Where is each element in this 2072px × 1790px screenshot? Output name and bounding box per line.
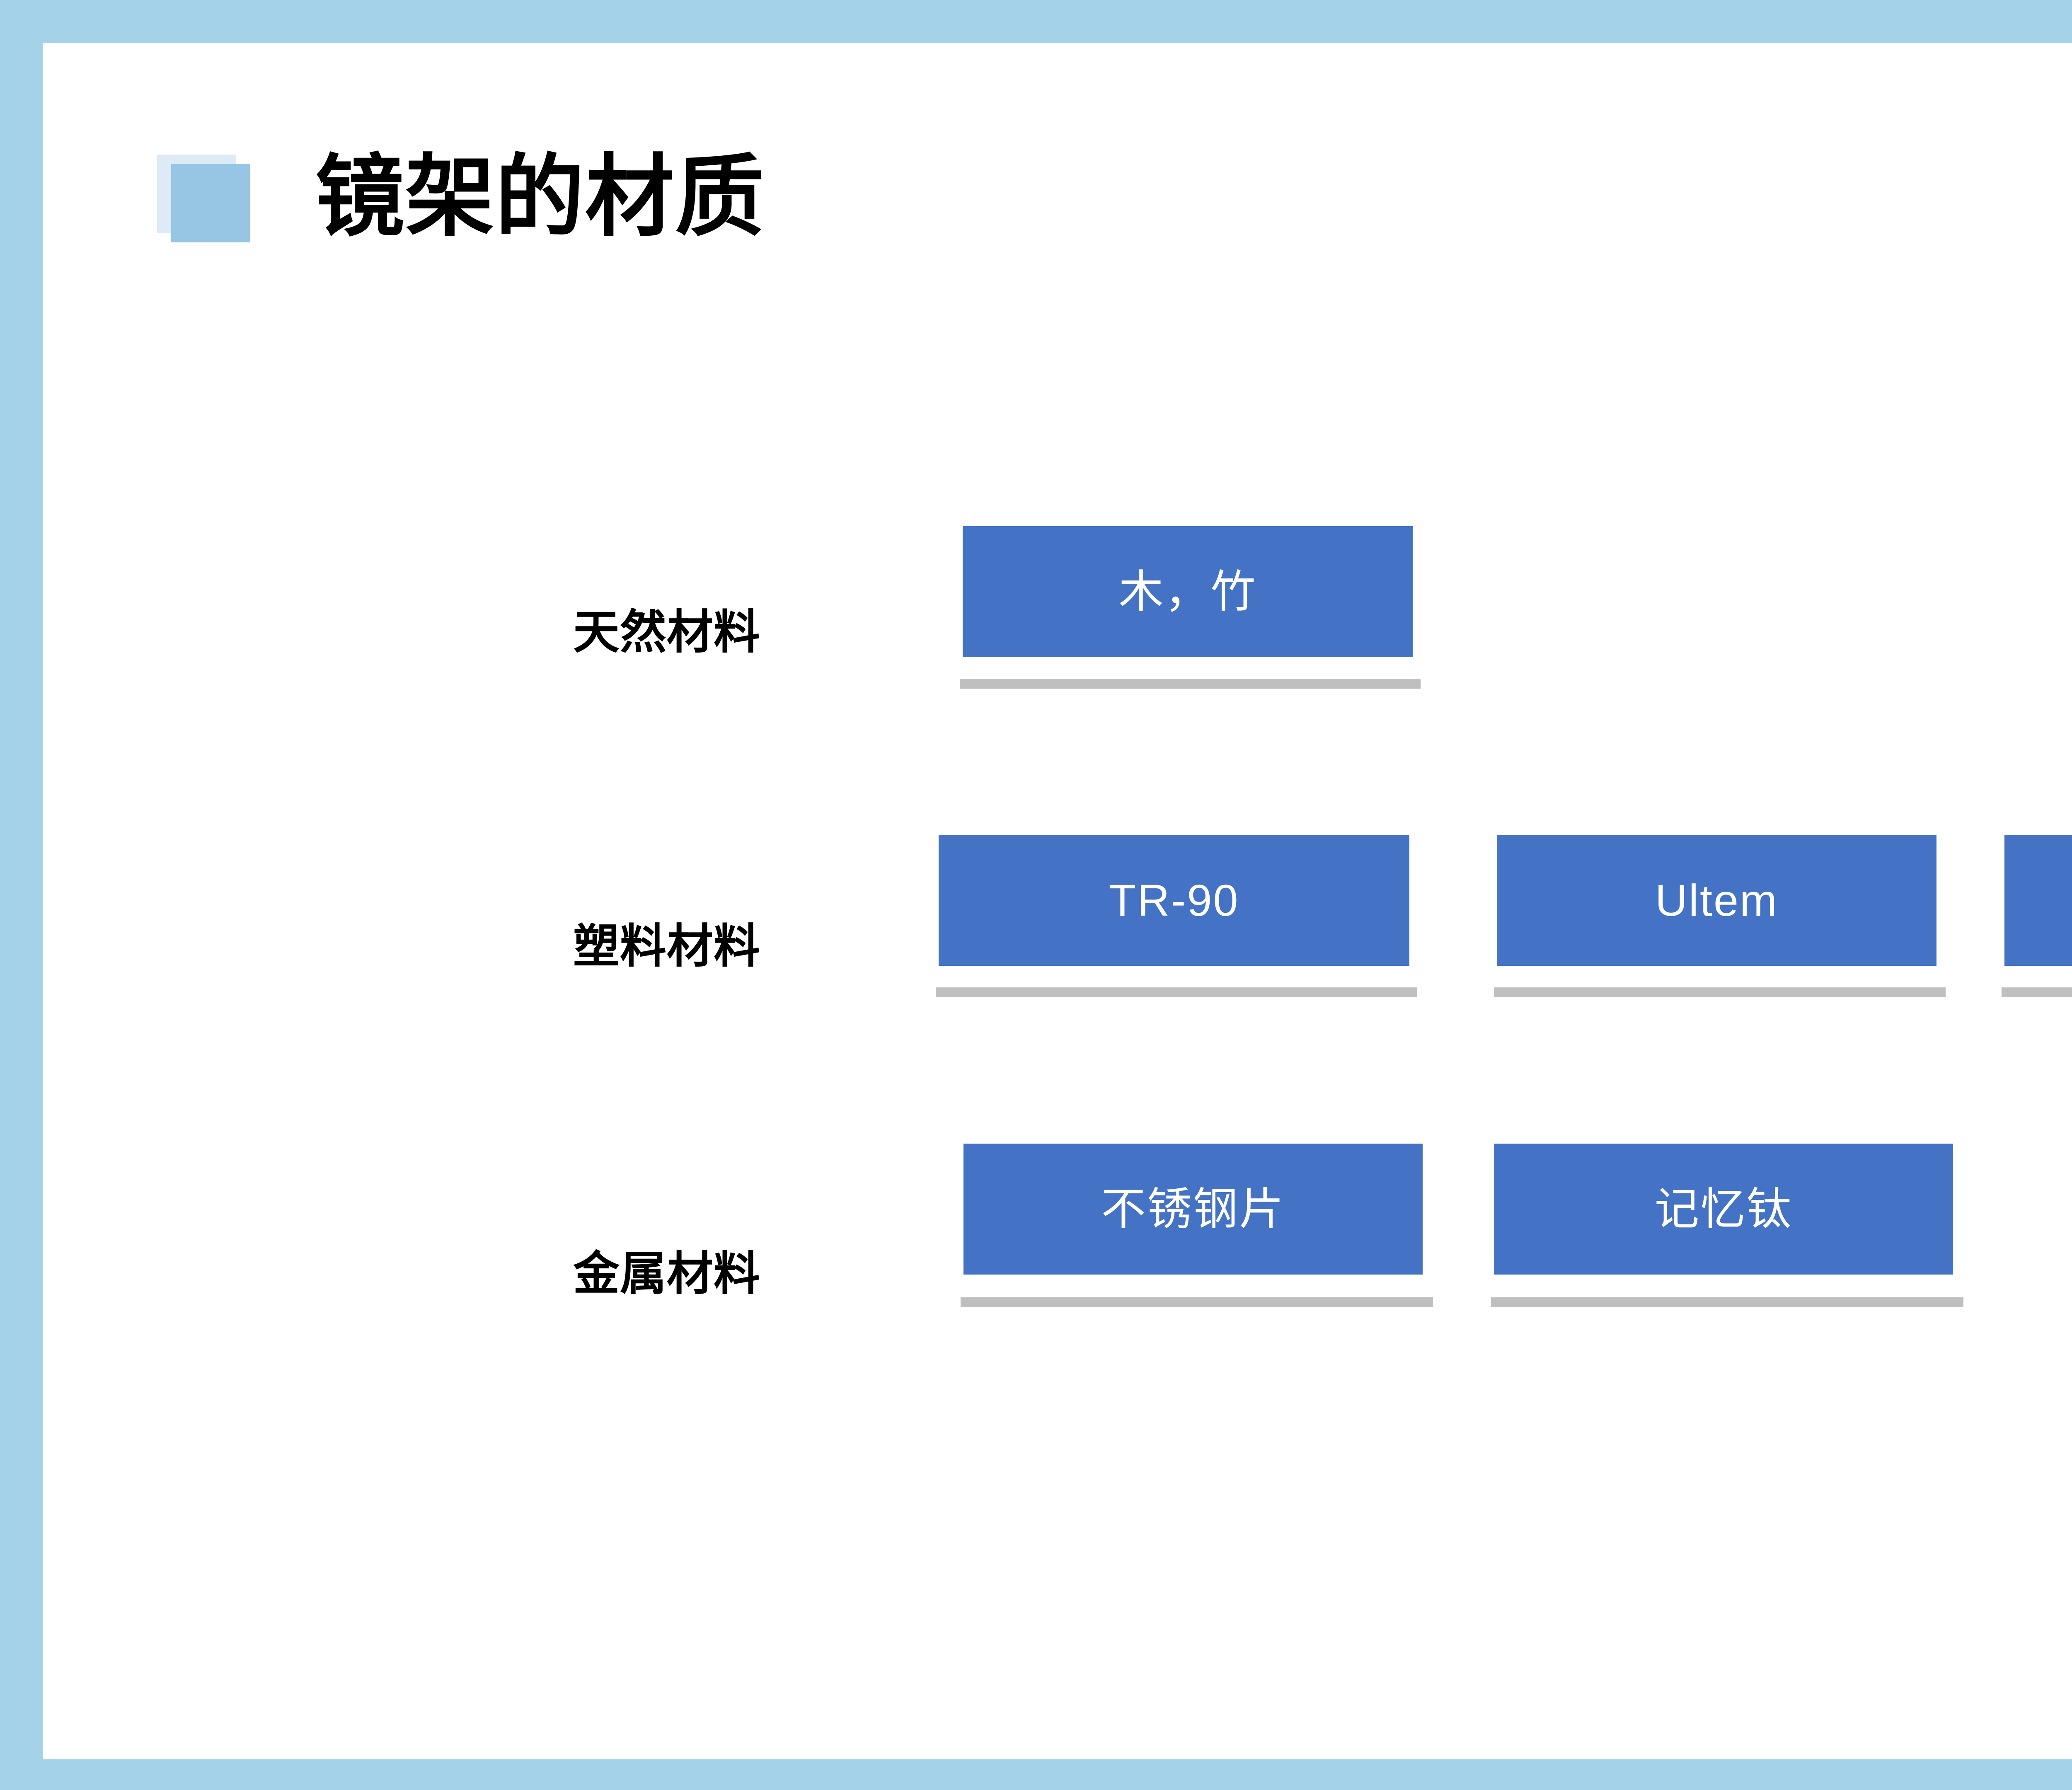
material-chip-label: 记忆钛 bbox=[1654, 1187, 1792, 1231]
material-chip-label: Ultem bbox=[1655, 878, 1778, 923]
material-matrix: 天然材料 木，竹 塑料材料 TR-90 bbox=[43, 43, 2072, 1759]
slide-canvas: 镜架的材质 天然材料 木，竹 塑料材料 TR-90 bbox=[43, 43, 2072, 1759]
row-label-plastic: 塑料材料 bbox=[573, 909, 929, 976]
card-shadow-bar bbox=[2002, 987, 2072, 997]
material-chip[interactable]: 木，竹 bbox=[960, 523, 1416, 660]
card-shadow-bar bbox=[960, 679, 1421, 689]
material-chip-label: 不锈钢片 bbox=[1101, 1187, 1285, 1231]
material-chip[interactable]: TR-90 bbox=[936, 832, 1412, 969]
card-shadow-bar bbox=[936, 987, 1417, 997]
material-chip-label: TR-90 bbox=[1109, 878, 1239, 923]
card-shadow-bar bbox=[1491, 1297, 1963, 1307]
matrix-row: 金属材料 不锈钢片 记忆钛 bbox=[43, 1141, 2072, 1373]
material-chip-label: 木，竹 bbox=[1118, 569, 1256, 614]
material-chip[interactable]: Ultem bbox=[1494, 832, 1939, 969]
material-chip[interactable]: 记忆钛 bbox=[1491, 1141, 1956, 1277]
card-shadow-bar bbox=[961, 1297, 1433, 1307]
slide-frame: 镜架的材质 天然材料 木，竹 塑料材料 TR-90 bbox=[0, 0, 2072, 1790]
row-label-natural: 天然材料 bbox=[573, 595, 929, 662]
card-shadow-bar bbox=[1494, 987, 1946, 997]
material-chip[interactable]: 板材 bbox=[2002, 832, 2072, 969]
material-chip[interactable]: 不锈钢片 bbox=[961, 1141, 1426, 1277]
row-label-metal: 金属材料 bbox=[573, 1236, 929, 1303]
matrix-row: 塑料材料 TR-90 Ultem 板材 bbox=[43, 832, 2072, 1064]
matrix-row: 天然材料 木，竹 bbox=[43, 523, 2072, 755]
